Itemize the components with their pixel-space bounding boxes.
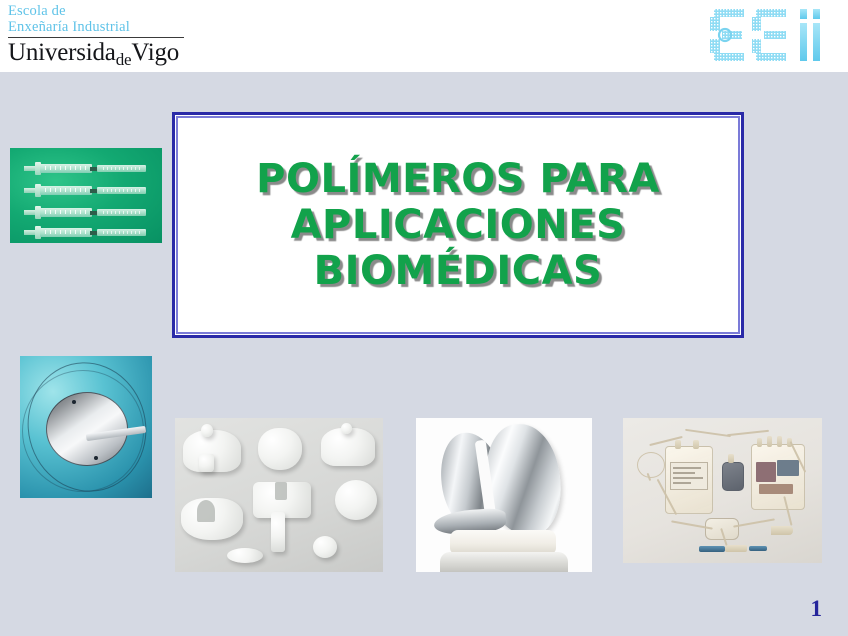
implant-photo xyxy=(20,356,152,498)
logo-divider-rule xyxy=(8,37,184,38)
syringes-photo xyxy=(10,148,162,243)
slide-title-panel: POLÍMEROS PARA APLICACIONES BIOMÉDICAS xyxy=(172,112,744,338)
school-name-line2: Enxeñaría Industrial xyxy=(8,20,193,36)
university-wordmark-main: Universida xyxy=(8,39,116,66)
presentation-slide: Escola de Enxeñaría Industrial Universid… xyxy=(0,0,848,636)
blood-bags-photo xyxy=(623,418,822,563)
school-name-line1: Escola de xyxy=(8,4,193,20)
polymer-components-photo xyxy=(175,418,383,572)
eei-logo-icon xyxy=(708,6,830,64)
title-line-3: BIOMÉDICAS xyxy=(256,248,660,294)
university-wordmark-sub: de xyxy=(116,50,132,69)
title-line-1: POLÍMEROS PARA xyxy=(256,156,660,202)
slide-title: POLÍMEROS PARA APLICACIONES BIOMÉDICAS xyxy=(242,156,674,294)
university-of-vigo-logo: Escola de Enxeñaría Industrial Universid… xyxy=(8,4,193,69)
knee-prosthesis-photo xyxy=(416,418,592,572)
title-line-2: APLICACIONES xyxy=(256,202,660,248)
university-wordmark-tail: Vigo xyxy=(131,39,179,66)
university-wordmark: UniversidadeVigo xyxy=(8,39,193,69)
page-number: 1 xyxy=(811,596,823,622)
